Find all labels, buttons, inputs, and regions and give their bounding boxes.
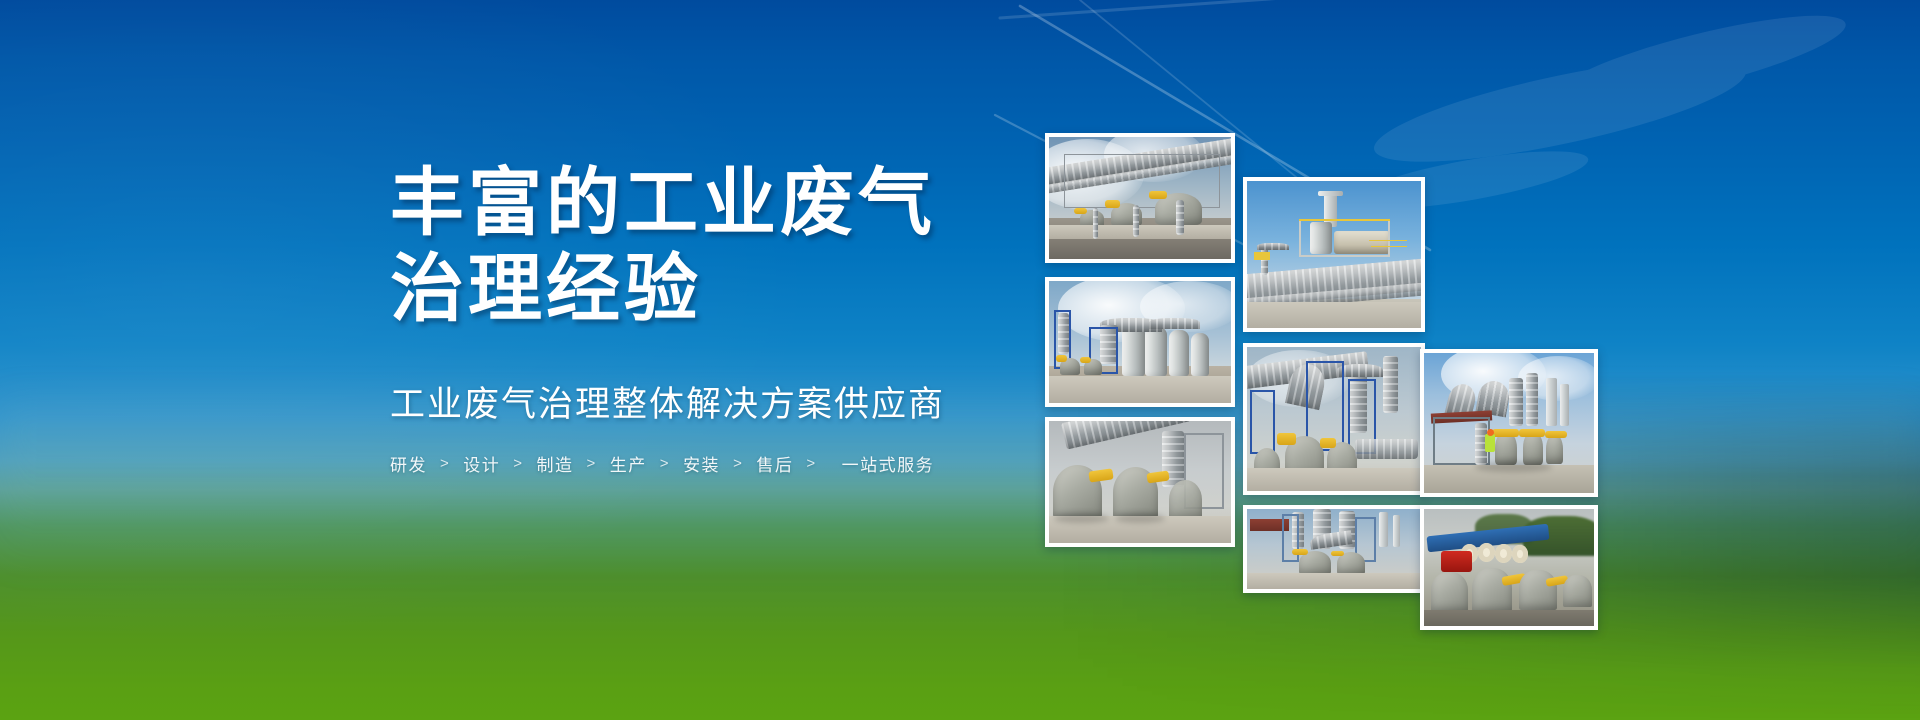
photo-fan-shipment[interactable]	[1420, 505, 1598, 630]
photo-fan-array[interactable]	[1045, 417, 1235, 547]
worker-helmet-icon	[1487, 429, 1494, 436]
process-step-3: 制造	[537, 451, 574, 476]
photo-site-workers[interactable]	[1420, 349, 1598, 497]
process-step-2: 设计	[463, 451, 500, 476]
worker-vest-icon	[1485, 434, 1495, 452]
headline-line-1: 丰富的工业废气	[390, 160, 1010, 246]
process-step-1: 研发	[390, 451, 427, 476]
process-steps: 研发 > 设计 > 制造 > 生产 > 安装 > 售后 > 一站式服务	[390, 451, 1010, 476]
process-step-4: 生产	[610, 451, 647, 476]
photo-plant-overview[interactable]	[1243, 505, 1425, 593]
hero-subtitle: 工业废气治理整体解决方案供应商	[390, 376, 1010, 427]
headline-line-2: 治理经验	[390, 246, 1010, 332]
step-separator-icon: >	[513, 455, 523, 472]
photo-scrubber-towers[interactable]	[1045, 277, 1235, 407]
photo-pipeline-rack[interactable]	[1045, 133, 1235, 263]
forklift-icon	[1441, 551, 1472, 572]
step-separator-icon: >	[587, 455, 597, 472]
process-step-7: 一站式服务	[842, 451, 935, 476]
step-separator-icon: >	[440, 455, 450, 472]
hero-banner: 丰富的工业废气 治理经验 工业废气治理整体解决方案供应商 研发 > 设计 > 制…	[0, 0, 1920, 720]
step-separator-icon: >	[733, 455, 743, 472]
hero-copy: 丰富的工业废气 治理经验 工业废气治理整体解决方案供应商 研发 > 设计 > 制…	[390, 160, 1010, 476]
page-title: 丰富的工业废气 治理经验	[390, 160, 1010, 332]
photo-rto-unit[interactable]	[1243, 177, 1425, 332]
process-step-5: 安装	[683, 451, 720, 476]
step-separator-icon: >	[660, 455, 670, 472]
photo-duct-network[interactable]	[1243, 343, 1425, 495]
step-separator-icon: >	[806, 455, 816, 472]
process-step-6: 售后	[756, 451, 793, 476]
